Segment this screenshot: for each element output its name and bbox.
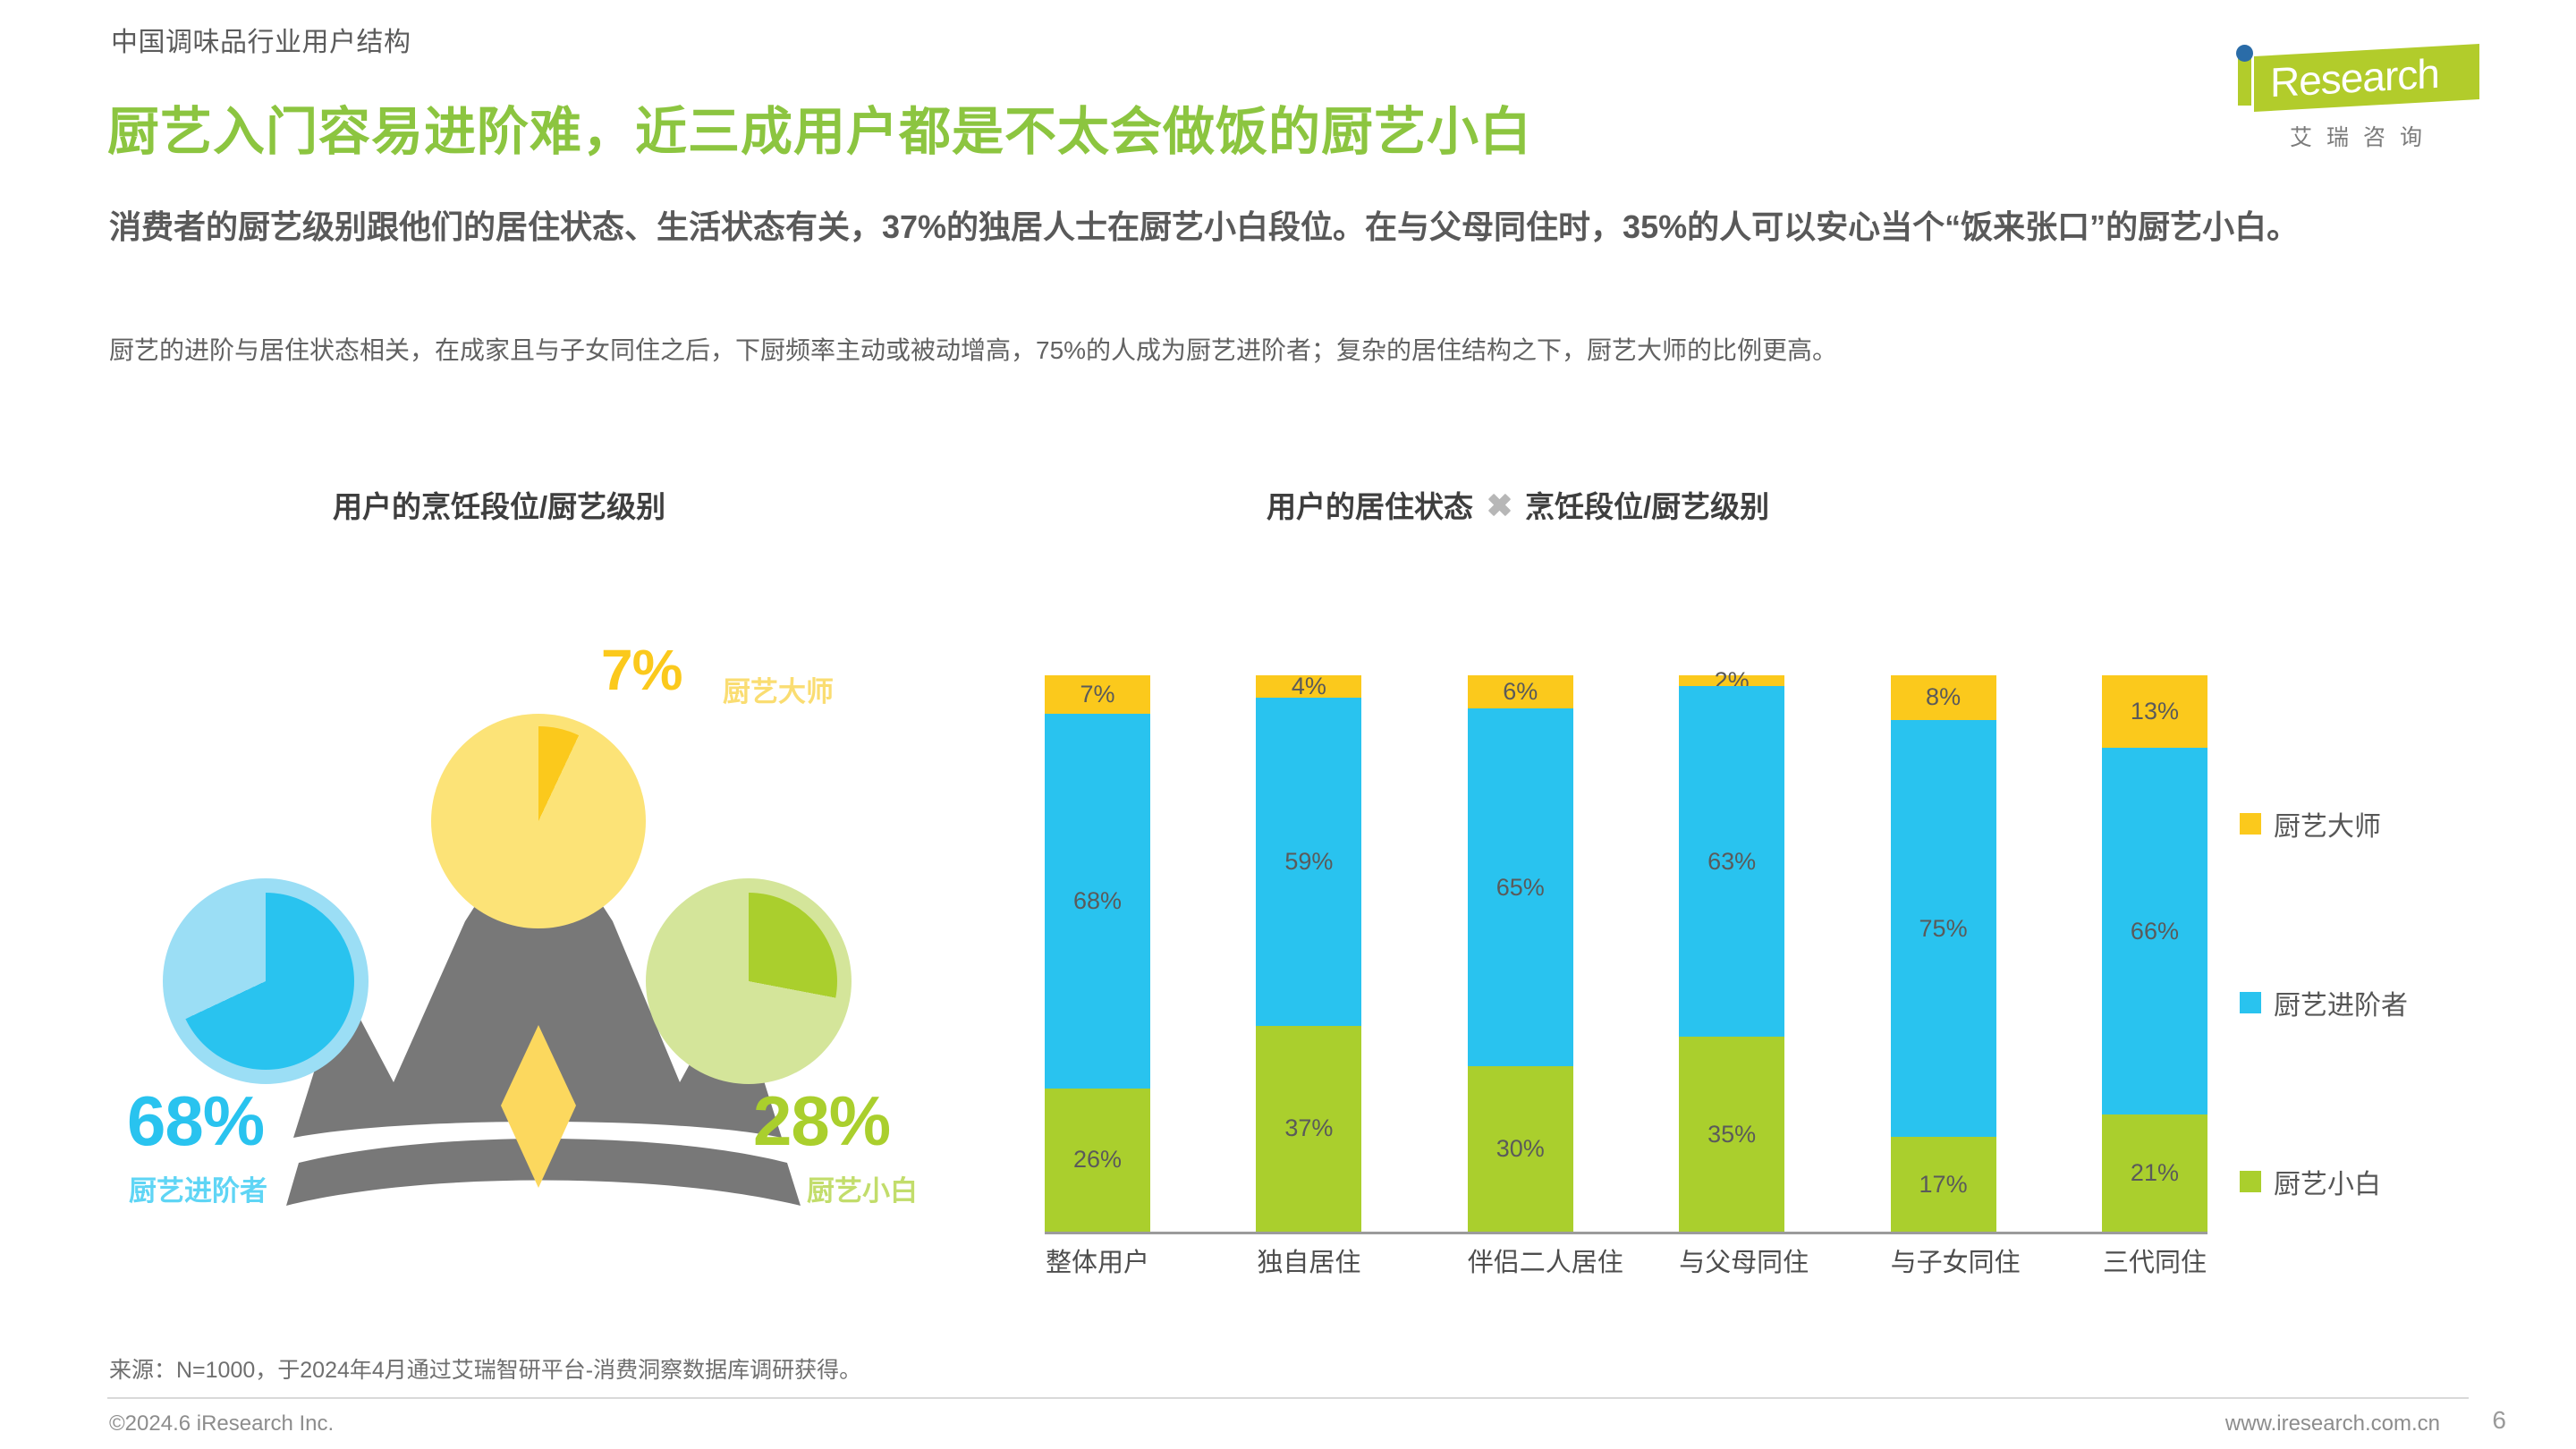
bar-column: 2%63%35% (1679, 675, 1784, 1232)
legend-swatch-icon (2240, 813, 2261, 835)
bar-segment-value: 66% (2131, 919, 2179, 944)
legend-item[interactable]: 厨艺大师 (2240, 805, 2535, 843)
bar-segment-value: 26% (1073, 1148, 1122, 1172)
bar-segment-master: 2% (1679, 675, 1784, 686)
footer-divider (107, 1397, 2469, 1399)
cross-icon (1486, 491, 1513, 518)
bar-segment-novice: 21% (2102, 1114, 2207, 1232)
right-chart-title: 用户的居住状态 烹饪段位/厨艺级别 (1267, 483, 1769, 526)
legend-label: 厨艺小白 (2274, 1162, 2381, 1201)
bar-segment-advanced: 65% (1468, 708, 1573, 1066)
bar-segment-master: 8% (1891, 675, 1996, 720)
page-number: 6 (2492, 1406, 2506, 1435)
bar-segment-value: 35% (1707, 1123, 1756, 1147)
bar-segment-value: 13% (2131, 699, 2179, 724)
bar-segment-advanced: 59% (1256, 698, 1361, 1026)
bar-segment-master: 7% (1045, 675, 1150, 714)
legend-label: 厨艺进阶者 (2274, 983, 2408, 1022)
logo-i-stem (2238, 57, 2251, 106)
pie-novice-slice (660, 893, 837, 1070)
bar-segment-value: 6% (1503, 680, 1538, 704)
bar-column: 6%65%30% (1468, 675, 1573, 1232)
bar-segment-master: 13% (2102, 675, 2207, 748)
x-axis-line (1045, 1232, 2207, 1234)
bar-group: 7%68%26%4%59%37%6%65%30%2%63%35%8%75%17%… (1045, 675, 2207, 1232)
bar-column: 8%75%17% (1891, 675, 1996, 1232)
bar-segment-novice: 30% (1468, 1066, 1573, 1232)
bar-segment-value: 8% (1926, 685, 1961, 709)
website-url: www.iresearch.com.cn (2225, 1411, 2440, 1436)
bar-segment-novice: 17% (1891, 1137, 1996, 1232)
advanced-label: 厨艺进阶者 (129, 1168, 267, 1208)
bar-segment-value: 65% (1496, 876, 1545, 900)
iresearch-logo: Research 艾瑞咨询 (2229, 47, 2497, 154)
bar-column: 4%59%37% (1256, 675, 1361, 1232)
x-axis-label: 三代同住 (2102, 1241, 2207, 1279)
novice-label: 厨艺小白 (807, 1168, 918, 1208)
legend-swatch-icon (2240, 1171, 2261, 1192)
logo-chinese-name: 艾瑞咨询 (2240, 120, 2487, 152)
bar-column: 13%66%21% (2102, 675, 2207, 1232)
legend-label: 厨艺大师 (2274, 804, 2381, 843)
bar-segment-novice: 37% (1256, 1026, 1361, 1232)
logo-dot-icon (2236, 45, 2253, 62)
lede-paragraph: 消费者的厨艺级别跟他们的居住状态、生活状态有关，37%的独居人士在厨艺小白段位。… (109, 204, 2435, 250)
bar-segment-advanced: 66% (2102, 748, 2207, 1115)
crown-infographic: 7% 厨艺大师 68% 厨艺进阶者 28% 厨艺小白 (107, 537, 1002, 1270)
x-axis-labels: 整体用户独自居住伴侣二人居住与父母同住与子女同住三代同住 (1045, 1241, 2207, 1279)
bar-segment-value: 63% (1707, 850, 1756, 874)
bar-segment-value: 59% (1284, 850, 1333, 874)
right-chart-title-left: 用户的居住状态 (1267, 483, 1473, 526)
bar-segment-value: 17% (1919, 1173, 1968, 1197)
right-chart-title-right: 烹饪段位/厨艺级别 (1525, 483, 1769, 526)
left-chart-title: 用户的烹饪段位/厨艺级别 (333, 483, 665, 526)
pie-advanced-slice (177, 893, 354, 1070)
kicker-text: 中国调味品行业用户结构 (111, 20, 411, 59)
bar-segment-value: 68% (1073, 889, 1122, 913)
bar-segment-master: 6% (1468, 675, 1573, 708)
advanced-percentage: 68% (127, 1080, 264, 1162)
bar-segment-novice: 35% (1679, 1037, 1784, 1232)
bar-segment-value: 21% (2131, 1161, 2179, 1185)
logo-wordmark: Research (2270, 49, 2439, 107)
legend-swatch-icon (2240, 992, 2261, 1013)
bar-column: 7%68%26% (1045, 675, 1150, 1232)
bar-segment-value: 7% (1080, 682, 1114, 707)
x-axis-label: 伴侣二人居住 (1468, 1241, 1573, 1279)
x-axis-label: 与子女同住 (1891, 1241, 1996, 1279)
bar-segment-value: 37% (1284, 1116, 1333, 1140)
bar-segment-advanced: 75% (1891, 720, 1996, 1138)
master-percentage: 7% (601, 637, 682, 703)
x-axis-label: 独自居住 (1256, 1241, 1361, 1279)
chart-legend: 厨艺大师厨艺进阶者厨艺小白 (2240, 805, 2535, 1200)
slide-page: 中国调味品行业用户结构 厨艺入门容易进阶难，近三成用户都是不太会做饭的厨艺小白 … (0, 0, 2576, 1449)
bar-segment-novice: 26% (1045, 1089, 1150, 1232)
legend-item[interactable]: 厨艺小白 (2240, 1163, 2535, 1200)
bar-segment-advanced: 68% (1045, 714, 1150, 1089)
source-note: 来源：N=1000，于2024年4月通过艾瑞智研平台-消费洞察数据库调研获得。 (109, 1352, 861, 1385)
bar-segment-master: 4% (1256, 675, 1361, 698)
pie-master-slice (444, 726, 633, 916)
bar-segment-value: 4% (1292, 674, 1326, 699)
master-label: 厨艺大师 (723, 669, 834, 709)
logo-mark: Research (2229, 47, 2497, 116)
x-axis-label: 整体用户 (1045, 1241, 1150, 1279)
bar-segment-advanced: 63% (1679, 686, 1784, 1037)
x-axis-label: 与父母同住 (1679, 1241, 1784, 1279)
stacked-bar-chart: 7%68%26%4%59%37%6%65%30%2%63%35%8%75%17%… (1045, 662, 2207, 1234)
novice-percentage: 28% (753, 1080, 890, 1162)
legend-item[interactable]: 厨艺进阶者 (2240, 984, 2535, 1021)
copyright-text: ©2024.6 iResearch Inc. (109, 1411, 334, 1436)
bar-segment-value: 30% (1496, 1137, 1545, 1161)
sub-note-paragraph: 厨艺的进阶与居住状态相关，在成家且与子女同住之后，下厨频率主动或被动增高，75%… (109, 333, 2470, 368)
page-title: 厨艺入门容易进阶难，近三成用户都是不太会做饭的厨艺小白 (107, 89, 1532, 165)
bar-segment-value: 75% (1919, 917, 1968, 941)
